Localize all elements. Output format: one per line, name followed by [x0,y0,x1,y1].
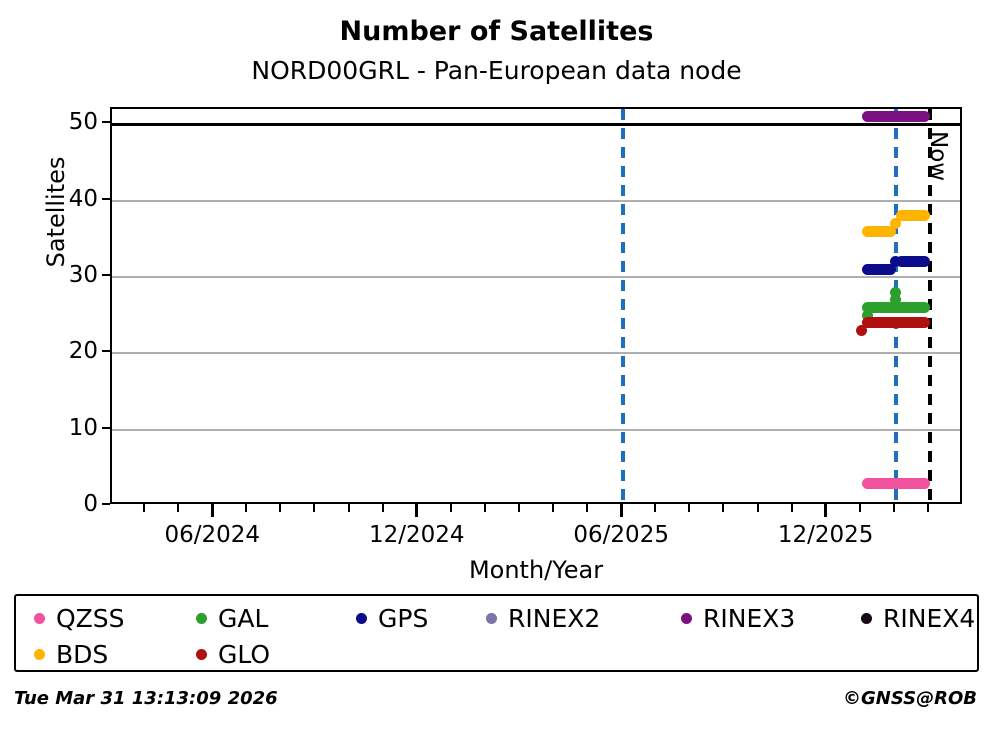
legend-label-bds: BDS [56,642,108,667]
legend-label-qzss: QZSS [56,606,125,631]
legend-item-glo[interactable]: GLO [196,636,270,672]
legend-marker-rinex4-icon [861,613,872,624]
page-title: Number of Satellites [0,16,993,47]
x-tick-09-2025 [722,504,724,512]
y-tick-label-40: 40 [12,186,98,212]
plot-area: Now [110,107,962,504]
legend-item-gal[interactable]: GAL [196,600,268,636]
gridline-20 [112,352,960,354]
legend-item-bds[interactable]: BDS [34,636,108,672]
legend-marker-glo-icon [196,649,207,660]
plot-canvas [112,109,960,502]
x-tick-06-2025 [620,504,623,517]
gridline-40 [112,200,960,202]
x-tick-07-2024 [245,504,247,512]
series-segment-glo [862,317,930,328]
legend-label-glo: GLO [218,642,270,667]
x-tick-02-2026 [893,504,895,512]
series-segment-qzss [862,478,930,489]
legend-item-rinex3[interactable]: RINEX3 [681,600,795,636]
legend-row-2: BDSGLO [16,636,977,672]
x-tick-06-2024 [211,504,214,517]
legend-marker-gal-icon [196,613,207,624]
x-tick-03-2025 [518,504,520,512]
chart-legend: QZSSGALGPSRINEX2RINEX3RINEX4 BDSGLO [14,594,979,672]
legend-item-rinex2[interactable]: RINEX2 [486,600,600,636]
data-start-marker-1 [621,109,625,502]
series-point-gal [890,287,901,298]
legend-label-gal: GAL [218,606,268,631]
x-tick-07-2025 [654,504,656,512]
x-tick-label-12-2025: 12/2025 [746,522,906,548]
x-tick-08-2025 [688,504,690,512]
series-point-glo [856,325,867,336]
legend-marker-rinex3-icon [681,613,692,624]
legend-marker-gps-icon [356,613,367,624]
legend-marker-bds-icon [34,649,45,660]
x-tick-label-12-2024: 12/2024 [337,522,497,548]
x-tick-10-2024 [348,504,350,512]
x-tick-04-2025 [552,504,554,512]
legend-label-rinex4: RINEX4 [883,606,975,631]
legend-label-rinex2: RINEX2 [508,606,600,631]
now-marker-label: Now [925,131,951,181]
y-tick-mark-10 [102,427,110,429]
y-tick-mark-30 [102,274,110,276]
gridline-10 [112,429,960,431]
gridline-50 [112,123,960,126]
x-tick-12-2025 [824,504,827,517]
y-tick-mark-40 [102,198,110,200]
legend-item-gps[interactable]: GPS [356,600,428,636]
legend-marker-qzss-icon [34,613,45,624]
x-axis-label: Month/Year [110,556,962,584]
series-point-bds [890,218,901,229]
footer-copyright: ©GNSS@ROB [843,688,977,709]
x-tick-08-2024 [279,504,281,512]
x-tick-11-2024 [382,504,384,512]
x-tick-label-06-2024: 06/2024 [132,522,292,548]
legend-marker-rinex2-icon [486,613,497,624]
x-axis-tick-labels: 06/202412/202406/202512/2025 [110,522,962,554]
legend-label-rinex3: RINEX3 [703,606,795,631]
y-axis-tick-labels: 01020304050 [0,107,98,504]
x-tick-label-06-2025: 06/2025 [541,522,701,548]
gridline-30 [112,276,960,278]
x-tick-01-2025 [450,504,452,512]
x-tick-12-2024 [415,504,418,517]
legend-item-rinex4[interactable]: RINEX4 [861,600,975,636]
y-tick-label-50: 50 [12,109,98,135]
x-tick-11-2025 [791,504,793,512]
legend-item-qzss[interactable]: QZSS [34,600,125,636]
chart-subtitle: NORD00GRL - Pan-European data node [0,56,993,85]
legend-label-gps: GPS [378,606,428,631]
y-tick-label-30: 30 [12,262,98,288]
y-tick-label-20: 20 [12,338,98,364]
x-tick-09-2024 [313,504,315,512]
y-tick-label-0: 0 [12,491,98,517]
footer-timestamp: Tue Mar 31 13:13:09 2026 [14,688,278,709]
y-tick-mark-50 [102,121,110,123]
x-tick-01-2026 [859,504,861,512]
series-segment-bds [896,210,930,221]
y-tick-mark-0 [102,503,110,505]
x-tick-04-2024 [143,504,145,512]
y-tick-mark-20 [102,350,110,352]
x-tick-05-2025 [586,504,588,512]
y-tick-label-10: 10 [12,415,98,441]
x-tick-10-2025 [757,504,759,512]
x-tick-03-2026 [927,504,929,512]
series-segment-rinex3 [862,111,930,122]
legend-row-1: QZSSGALGPSRINEX2RINEX3RINEX4 [16,600,977,636]
x-axis-tick-marks [110,504,962,518]
x-tick-05-2024 [177,504,179,512]
x-tick-02-2025 [484,504,486,512]
